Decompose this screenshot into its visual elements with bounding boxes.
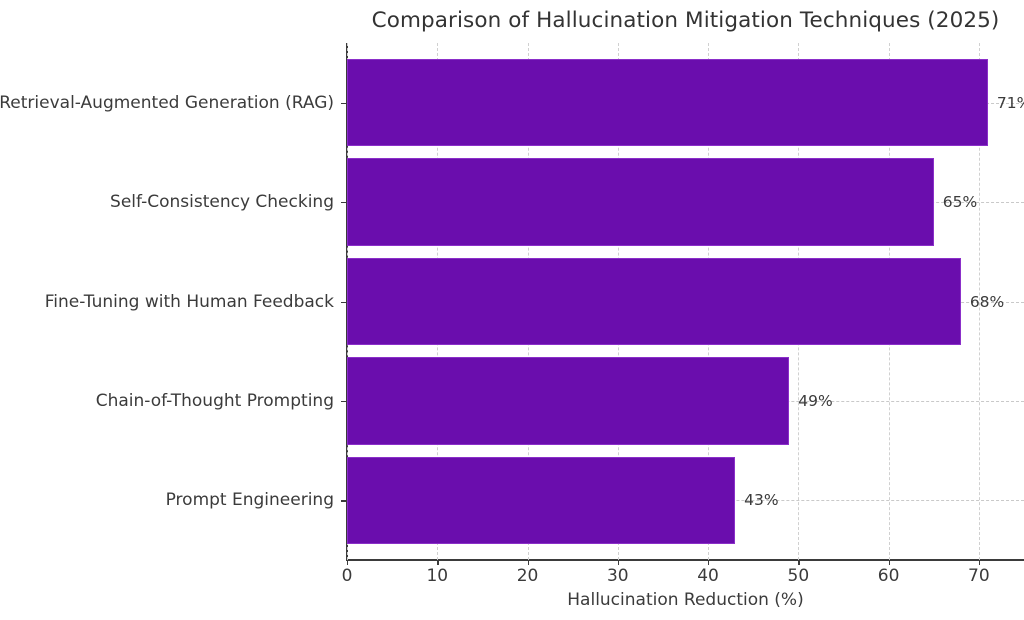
x-axis-label: Hallucination Reduction (%) xyxy=(347,590,1024,610)
bar xyxy=(347,357,789,444)
plot-area xyxy=(347,43,1024,560)
bar xyxy=(347,59,988,146)
y-tick-label: Retrieval-Augmented Generation (RAG) xyxy=(0,93,334,113)
bar xyxy=(347,258,961,345)
x-tick-mark xyxy=(618,560,619,565)
bar-value-label: 43% xyxy=(744,491,778,509)
x-tick-label: 40 xyxy=(697,566,719,586)
y-tick-label: Self-Consistency Checking xyxy=(110,192,334,212)
x-tick-label: 50 xyxy=(788,566,810,586)
y-tick-mark xyxy=(341,302,346,303)
y-tick-label: Chain-of-Thought Prompting xyxy=(96,391,334,411)
bar-value-label: 68% xyxy=(970,293,1004,311)
bar-value-label: 71% xyxy=(997,94,1024,112)
bar-value-label: 49% xyxy=(798,392,832,410)
x-tick-label: 10 xyxy=(426,566,448,586)
x-tick-mark xyxy=(889,560,890,565)
x-tick-mark xyxy=(347,560,348,565)
y-tick-label: Prompt Engineering xyxy=(166,490,334,510)
bar xyxy=(347,158,934,245)
chart-figure: Comparison of Hallucination Mitigation T… xyxy=(0,0,1024,620)
x-tick-label: 0 xyxy=(342,566,353,586)
y-tick-label: Fine-Tuning with Human Feedback xyxy=(45,292,334,312)
x-tick-label: 60 xyxy=(878,566,900,586)
x-tick-mark xyxy=(708,560,709,565)
y-tick-mark xyxy=(341,401,346,402)
x-tick-mark xyxy=(979,560,980,565)
y-tick-mark xyxy=(341,103,346,104)
x-tick-mark xyxy=(798,560,799,565)
bar-value-label: 65% xyxy=(943,193,977,211)
y-tick-mark xyxy=(341,202,346,203)
x-tick-mark xyxy=(437,560,438,565)
bar xyxy=(347,457,735,544)
x-tick-label: 30 xyxy=(607,566,629,586)
y-tick-mark xyxy=(341,500,346,501)
x-tick-mark xyxy=(528,560,529,565)
chart-title: Comparison of Hallucination Mitigation T… xyxy=(347,8,1024,33)
x-tick-label: 20 xyxy=(517,566,539,586)
x-tick-label: 70 xyxy=(968,566,990,586)
